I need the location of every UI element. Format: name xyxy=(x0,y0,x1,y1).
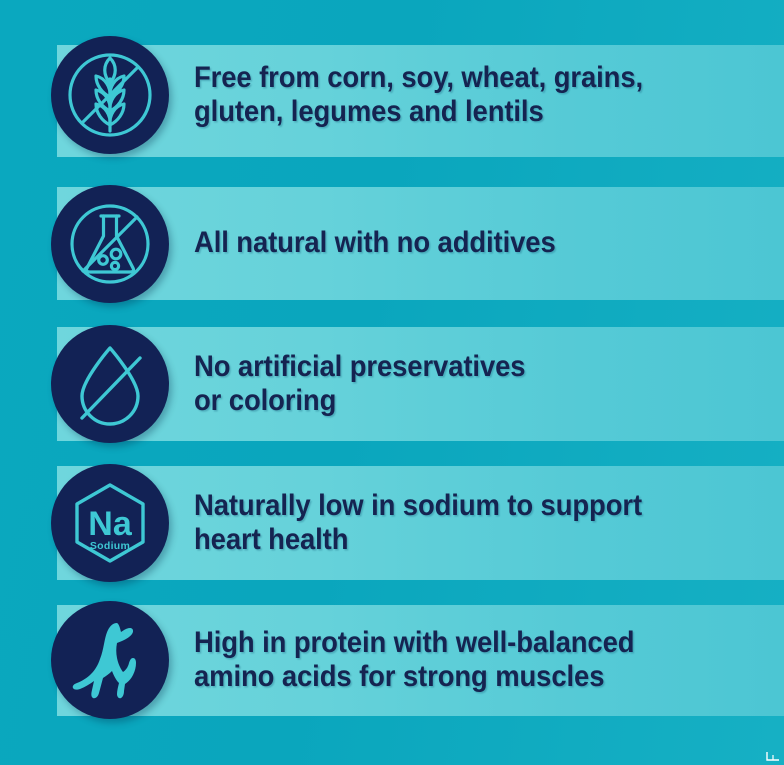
no-chemical-flask-icon xyxy=(51,185,169,303)
jumping-dog-icon xyxy=(51,601,169,719)
benefit-row: No artificial preservatives or coloring xyxy=(0,327,784,441)
sodium-element-name-text: Sodium xyxy=(90,540,130,552)
no-water-droplet-icon xyxy=(51,325,169,443)
benefit-text: Free from corn, soy, wheat, grains, glut… xyxy=(194,61,643,129)
sodium-hexagon-icon: Na Sodium xyxy=(51,464,169,582)
benefits-infographic: Free from corn, soy, wheat, grains, glut… xyxy=(0,0,784,765)
resize-handle-icon[interactable] xyxy=(765,750,781,762)
benefit-text: All natural with no additives xyxy=(194,226,556,260)
benefit-row: Na Sodium Naturally low in sodium to sup… xyxy=(0,466,784,580)
sodium-symbol-text: Na xyxy=(88,505,133,543)
benefit-text: No artificial preservatives or coloring xyxy=(194,350,525,418)
benefit-text: Naturally low in sodium to support heart… xyxy=(194,489,642,557)
benefit-text: High in protein with well-balanced amino… xyxy=(194,626,634,694)
no-grain-wheat-icon xyxy=(51,36,169,154)
benefit-row: Free from corn, soy, wheat, grains, glut… xyxy=(0,33,784,157)
benefit-row: All natural with no additives xyxy=(0,187,784,300)
benefit-row: High in protein with well-balanced amino… xyxy=(0,605,784,715)
